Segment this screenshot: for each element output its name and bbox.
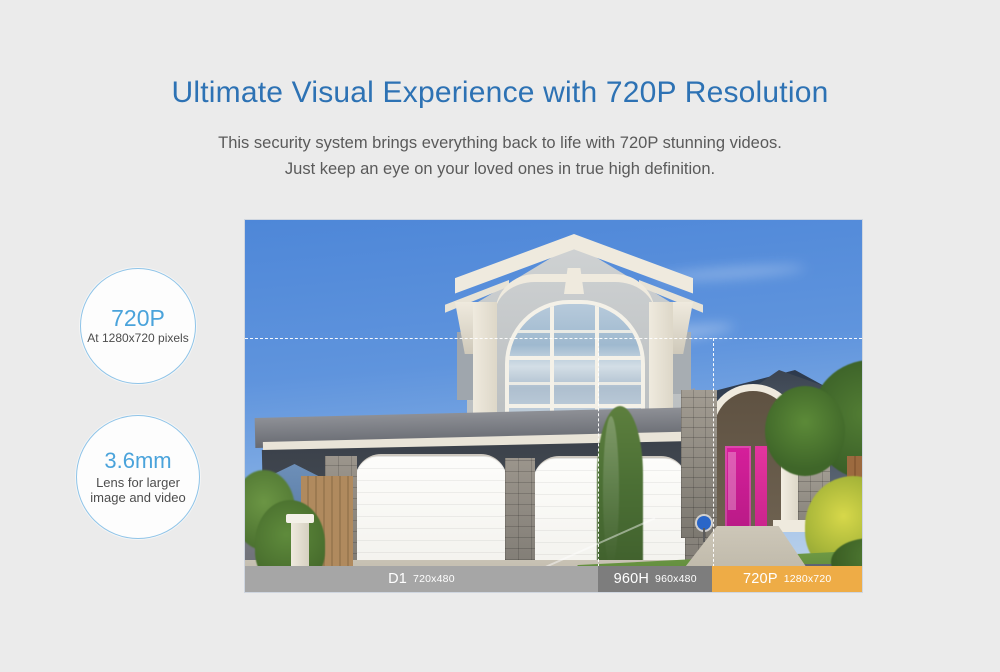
page-title: Ultimate Visual Experience with 720P Res…	[0, 76, 1000, 110]
resolution-comparison-photo: D1 720x480 960H 960x480 720P 1280x720	[244, 219, 863, 593]
mailbox-post-cap	[286, 514, 314, 523]
segment-720p-pixels: 1280x720	[784, 573, 832, 585]
promo-page: Ultimate Visual Experience with 720P Res…	[0, 0, 1000, 672]
front-door-sidelight	[755, 446, 767, 532]
segment-960h-pixels: 960x480	[655, 573, 697, 585]
tree-canopy-right-2	[765, 386, 845, 476]
segment-d1-name: D1	[388, 571, 407, 587]
house-photo-scene	[245, 220, 862, 592]
badge-lens-caption-line-1: Lens for larger	[96, 475, 180, 490]
resolution-guide-horizontal	[245, 338, 862, 339]
resolution-segment-d1: D1 720x480	[245, 566, 598, 592]
resolution-guide-vertical-960h	[713, 338, 714, 592]
segment-d1-pixels: 720x480	[413, 573, 455, 585]
resolution-guide-vertical-d1	[598, 338, 599, 592]
resolution-segment-960h: 960H 960x480	[598, 566, 713, 592]
resolution-segment-720p: 720P 1280x720	[712, 566, 862, 592]
badge-lens-caption-line-2: image and video	[90, 490, 185, 505]
badge-lens-headline: 3.6mm	[104, 449, 171, 472]
segment-720p-name: 720P	[743, 571, 778, 587]
page-subtitle: This security system brings everything b…	[0, 130, 1000, 182]
feature-badge-lens: 3.6mm Lens for larger image and video	[76, 415, 200, 539]
feature-badge-resolution: 720P At 1280x720 pixels	[80, 268, 196, 384]
resolution-label-bar: D1 720x480 960H 960x480 720P 1280x720	[245, 566, 862, 592]
entry-stone-column-left	[681, 390, 717, 538]
badge-resolution-headline: 720P	[111, 306, 165, 330]
front-door-glass	[728, 452, 736, 510]
badge-resolution-caption: At 1280x720 pixels	[87, 331, 188, 346]
yard-sign-post	[703, 528, 705, 542]
subtitle-line-1: This security system brings everything b…	[0, 130, 1000, 156]
subtitle-line-2: Just keep an eye on your loved ones in t…	[0, 156, 1000, 182]
segment-960h-name: 960H	[614, 571, 649, 587]
